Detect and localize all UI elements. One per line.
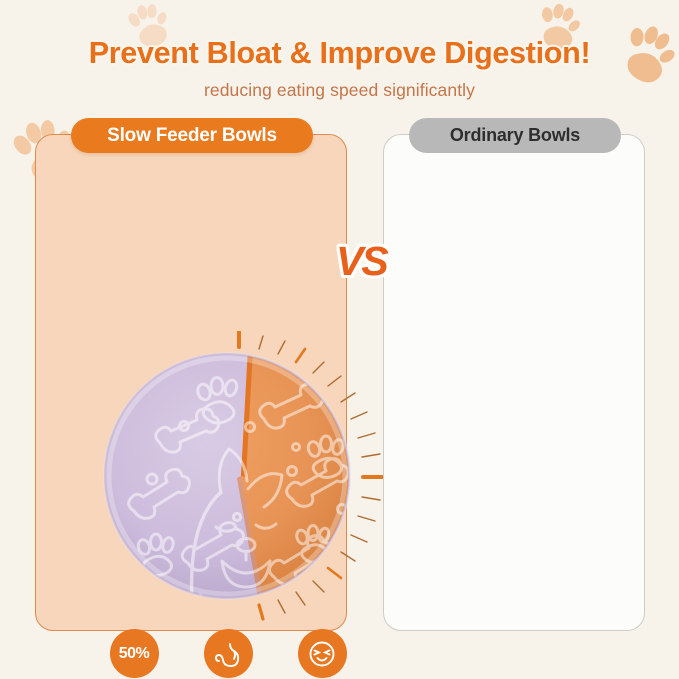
benefit-item: 50% Slows Eatingby 50% (92, 629, 176, 679)
benefit-item: Funny Eating (280, 629, 364, 679)
slow-feeder-bowl-image (96, 331, 386, 621)
page-subtitle: reducing eating speed significantly (0, 80, 679, 101)
stomach-icon (204, 629, 253, 678)
page-title: Prevent Bloat & Improve Digestion! (0, 36, 679, 71)
ordinary-bowl-title-text: Ordinary Bowls (450, 125, 580, 146)
slow-feeder-benefits: 50% Slows Eatingby 50% Help Digest (92, 629, 364, 679)
vs-badge: VS (336, 238, 387, 285)
ordinary-bowl-title-badge: Ordinary Bowls (409, 118, 621, 153)
percent-50-text: 50% (119, 645, 150, 663)
benefit-item: Help Digest (186, 629, 270, 679)
infographic-canvas: Prevent Bloat & Improve Digestion! reduc… (0, 0, 679, 679)
slow-feeder-panel: Slow Feeder Bowls (35, 134, 347, 631)
ordinary-bowl-panel: Ordinary Bowls (383, 134, 645, 631)
slow-feeder-title-text: Slow Feeder Bowls (107, 125, 277, 147)
slow-feeder-bowl-svg (96, 331, 386, 621)
happy-face-icon (298, 629, 347, 678)
percent-50-icon: 50% (110, 629, 159, 678)
slow-feeder-title-badge: Slow Feeder Bowls (71, 118, 313, 153)
